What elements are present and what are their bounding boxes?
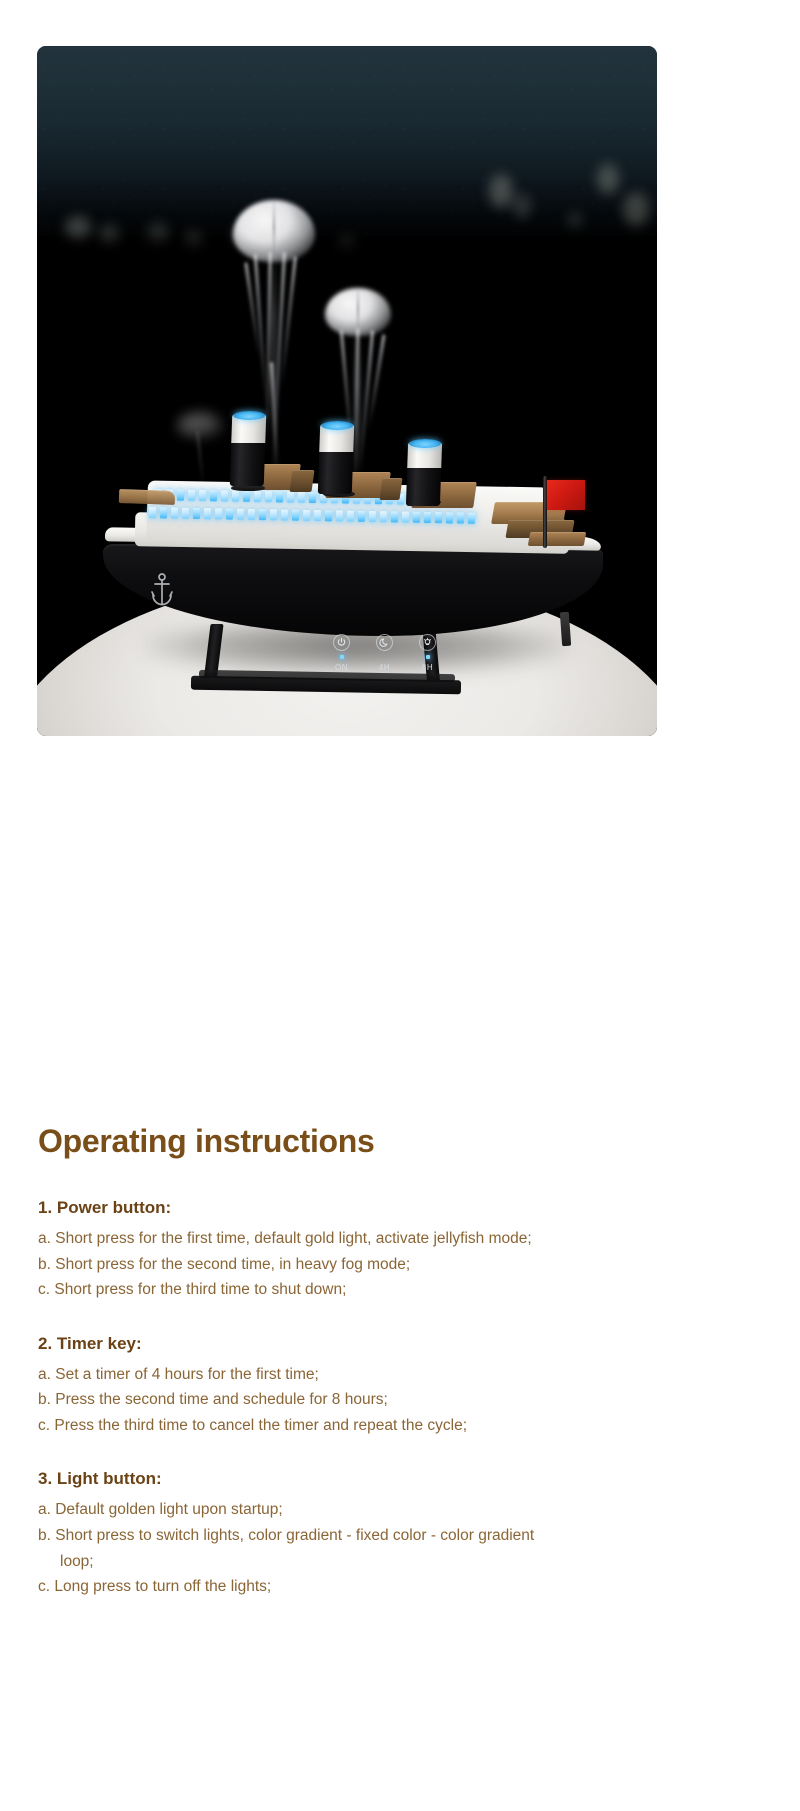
- deck-window: [171, 508, 178, 519]
- deck-window: [193, 508, 200, 519]
- ship-hull: [103, 544, 603, 636]
- instruction-line: a. Short press for the first time, defau…: [38, 1226, 762, 1252]
- instruction-line: c. Press the third time to cancel the ti…: [38, 1413, 762, 1439]
- instructions-content: Operating instructions 1. Power button:a…: [38, 1124, 762, 1600]
- deck-window: [259, 509, 266, 520]
- deck-window: [210, 490, 217, 501]
- control-panel[interactable]: ON 4H: [333, 634, 436, 672]
- instruction-line: b. Press the second time and schedule fo…: [38, 1387, 762, 1413]
- deck-window: [270, 509, 277, 520]
- deck-window: [369, 511, 376, 522]
- deck-window: [468, 513, 475, 524]
- deck-window: [232, 491, 239, 502]
- power-led: [340, 655, 344, 659]
- instruction-line: c. Long press to turn off the lights;: [38, 1574, 762, 1600]
- deck-window: [292, 510, 299, 521]
- section-heading: 2. Timer key:: [38, 1333, 762, 1356]
- light-button-label: 8H: [422, 663, 433, 672]
- deck-housing: [289, 470, 314, 492]
- instruction-section: 2. Timer key:a. Set a timer of 4 hours f…: [38, 1333, 762, 1439]
- instruction-line: c. Short press for the third time to shu…: [38, 1277, 762, 1303]
- deck-window: [314, 510, 321, 521]
- deck-window: [309, 492, 316, 503]
- deck-window: [188, 490, 195, 501]
- deck-window: [243, 491, 250, 502]
- deck-window: [424, 512, 431, 523]
- light-bulb-icon: [419, 634, 436, 651]
- deck-window: [457, 513, 464, 524]
- instruction-section: 1. Power button:a. Short press for the f…: [38, 1197, 762, 1303]
- deck-window: [237, 509, 244, 520]
- instruction-line: b. Short press for the second time, in h…: [38, 1252, 762, 1278]
- funnel-black-body: [406, 466, 441, 506]
- deck-window: [265, 491, 272, 502]
- instruction-line: loop;: [38, 1549, 762, 1575]
- deck-window: [149, 507, 156, 518]
- ship-funnel: [230, 414, 267, 486]
- deck-window: [446, 512, 453, 523]
- deck-window: [435, 512, 442, 523]
- deck-window: [221, 490, 228, 501]
- timer-led: [383, 655, 387, 659]
- bow-deck-planking: [119, 489, 175, 505]
- ship-funnel: [406, 442, 442, 506]
- instruction-section: 3. Light button:a. Default golden light …: [38, 1468, 762, 1599]
- deck-window: [336, 510, 343, 521]
- instruction-line: a. Set a timer of 4 hours for the first …: [38, 1362, 762, 1388]
- deck-window: [215, 508, 222, 519]
- moon-timer-icon: [376, 634, 393, 651]
- light-led: [426, 655, 430, 659]
- deck-window: [402, 512, 409, 523]
- deck-window: [182, 508, 189, 519]
- deck-housing: [379, 478, 402, 500]
- section-heading: 1. Power button:: [38, 1197, 762, 1220]
- funnel-mist-outlet: [409, 439, 441, 448]
- deck-window: [413, 512, 420, 523]
- page-title: Operating instructions: [38, 1124, 762, 1159]
- deck-window: [254, 491, 261, 502]
- deck-window: [160, 507, 167, 518]
- deck-window: [298, 492, 305, 503]
- ship-funnel: [318, 424, 354, 494]
- deck-window: [287, 492, 294, 503]
- funnel-black-body: [318, 451, 354, 494]
- deck-window: [204, 508, 211, 519]
- product-photo: ON 4H: [37, 46, 657, 736]
- deck-window: [358, 511, 365, 522]
- power-button[interactable]: ON: [333, 634, 350, 672]
- funnel-black-body: [230, 441, 266, 486]
- deck-window: [199, 490, 206, 501]
- power-cable: [560, 612, 571, 647]
- instruction-line: b. Short press to switch lights, color g…: [38, 1523, 762, 1549]
- stern-deck-planking: [528, 532, 586, 546]
- instruction-sections: 1. Power button:a. Short press for the f…: [38, 1197, 762, 1599]
- horizon-silhouette: [37, 196, 657, 286]
- anchor-icon: [149, 572, 175, 610]
- timer-button-label: 4H: [379, 663, 390, 672]
- power-button-label: ON: [335, 663, 348, 672]
- deck-window: [347, 511, 354, 522]
- red-flag: [547, 480, 585, 510]
- section-heading: 3. Light button:: [38, 1468, 762, 1491]
- deck-window: [226, 508, 233, 519]
- deck-window: [303, 510, 310, 521]
- deck-window: [177, 490, 184, 501]
- funnel-mist-outlet: [233, 411, 265, 420]
- timer-button[interactable]: 4H: [376, 634, 393, 672]
- power-icon: [333, 634, 350, 651]
- deck-window: [380, 511, 387, 522]
- funnel-mist-outlet: [321, 421, 353, 430]
- deck-window: [276, 491, 283, 502]
- titanic-diffuser: ON 4H: [95, 466, 615, 696]
- deck-window: [325, 510, 332, 521]
- deck-window: [281, 509, 288, 520]
- deck-window: [248, 509, 255, 520]
- instruction-line: a. Default golden light upon startup;: [38, 1497, 762, 1523]
- light-button[interactable]: 8H: [419, 634, 436, 672]
- deck-window: [391, 511, 398, 522]
